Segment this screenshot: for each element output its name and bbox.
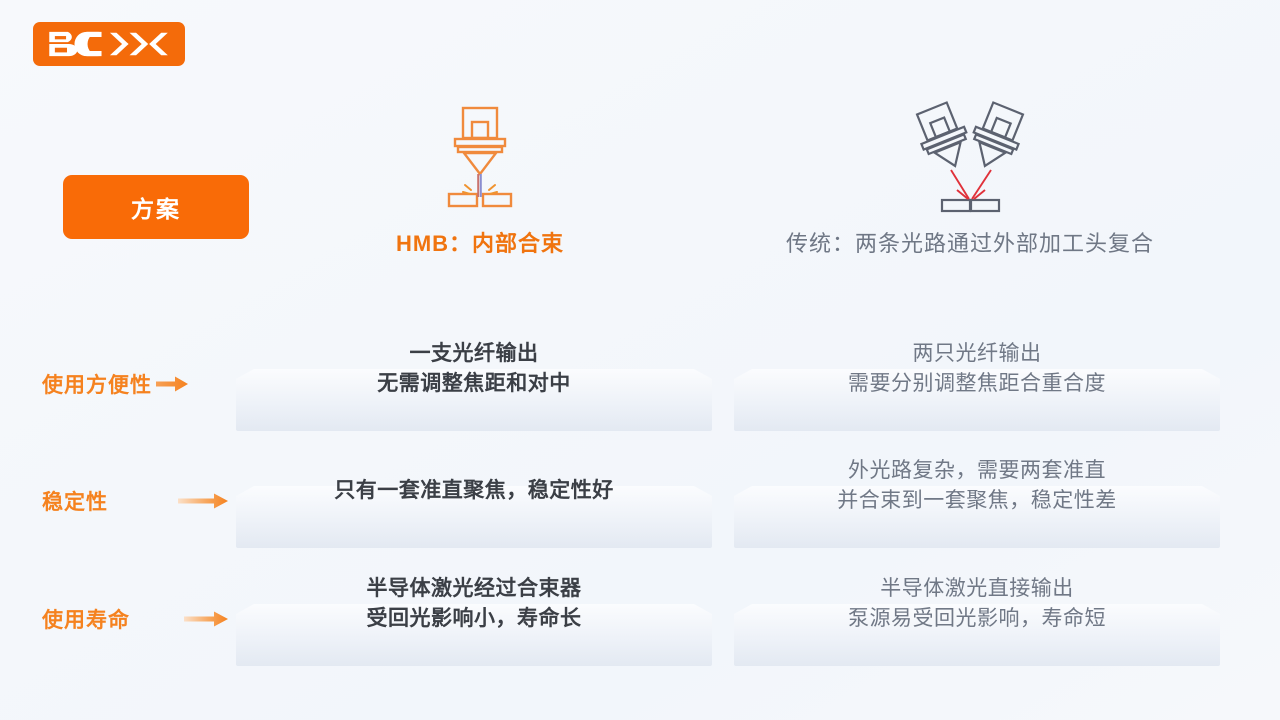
cell-text-traditional: 两只光纤输出 需要分别调整焦距合重合度 <box>734 339 1220 399</box>
arrow-right-icon <box>178 492 230 510</box>
column-title-traditional: 传统：两条光路通过外部加工头复合 <box>740 226 1200 258</box>
row-label-text: 使用方便性 <box>42 369 152 399</box>
arrow-right-icon <box>156 375 190 393</box>
row-label-convenience: 使用方便性 <box>42 367 242 401</box>
cell-text-traditional: 半导体激光直接输出 泵源易受回光影响，寿命短 <box>734 574 1220 634</box>
cell-text-traditional: 外光路复杂，需要两套准直 并合束到一套聚焦，稳定性差 <box>734 456 1220 516</box>
row-label-stability: 稳定性 <box>42 484 242 518</box>
row-label-text: 稳定性 <box>42 486 108 516</box>
brand-logo <box>33 22 185 66</box>
cell-text-hmb: 只有一套准直聚焦，稳定性好 <box>236 476 712 506</box>
plan-badge: 方案 <box>63 175 249 239</box>
row-label-lifetime: 使用寿命 <box>42 602 242 636</box>
cell-text-hmb: 一支光纤输出 无需调整焦距和对中 <box>236 339 712 399</box>
logo-mark-icon <box>47 30 171 58</box>
plan-badge-label: 方案 <box>131 190 181 224</box>
cell-text-hmb: 半导体激光经过合束器 受回光影响小，寿命长 <box>236 574 712 634</box>
arrow-right-icon <box>184 610 230 628</box>
column-title-hmb: HMB：内部合束 <box>300 226 660 258</box>
row-label-text: 使用寿命 <box>42 604 130 634</box>
single-laser-head-icon <box>415 100 545 220</box>
dual-laser-head-icon <box>895 100 1045 220</box>
